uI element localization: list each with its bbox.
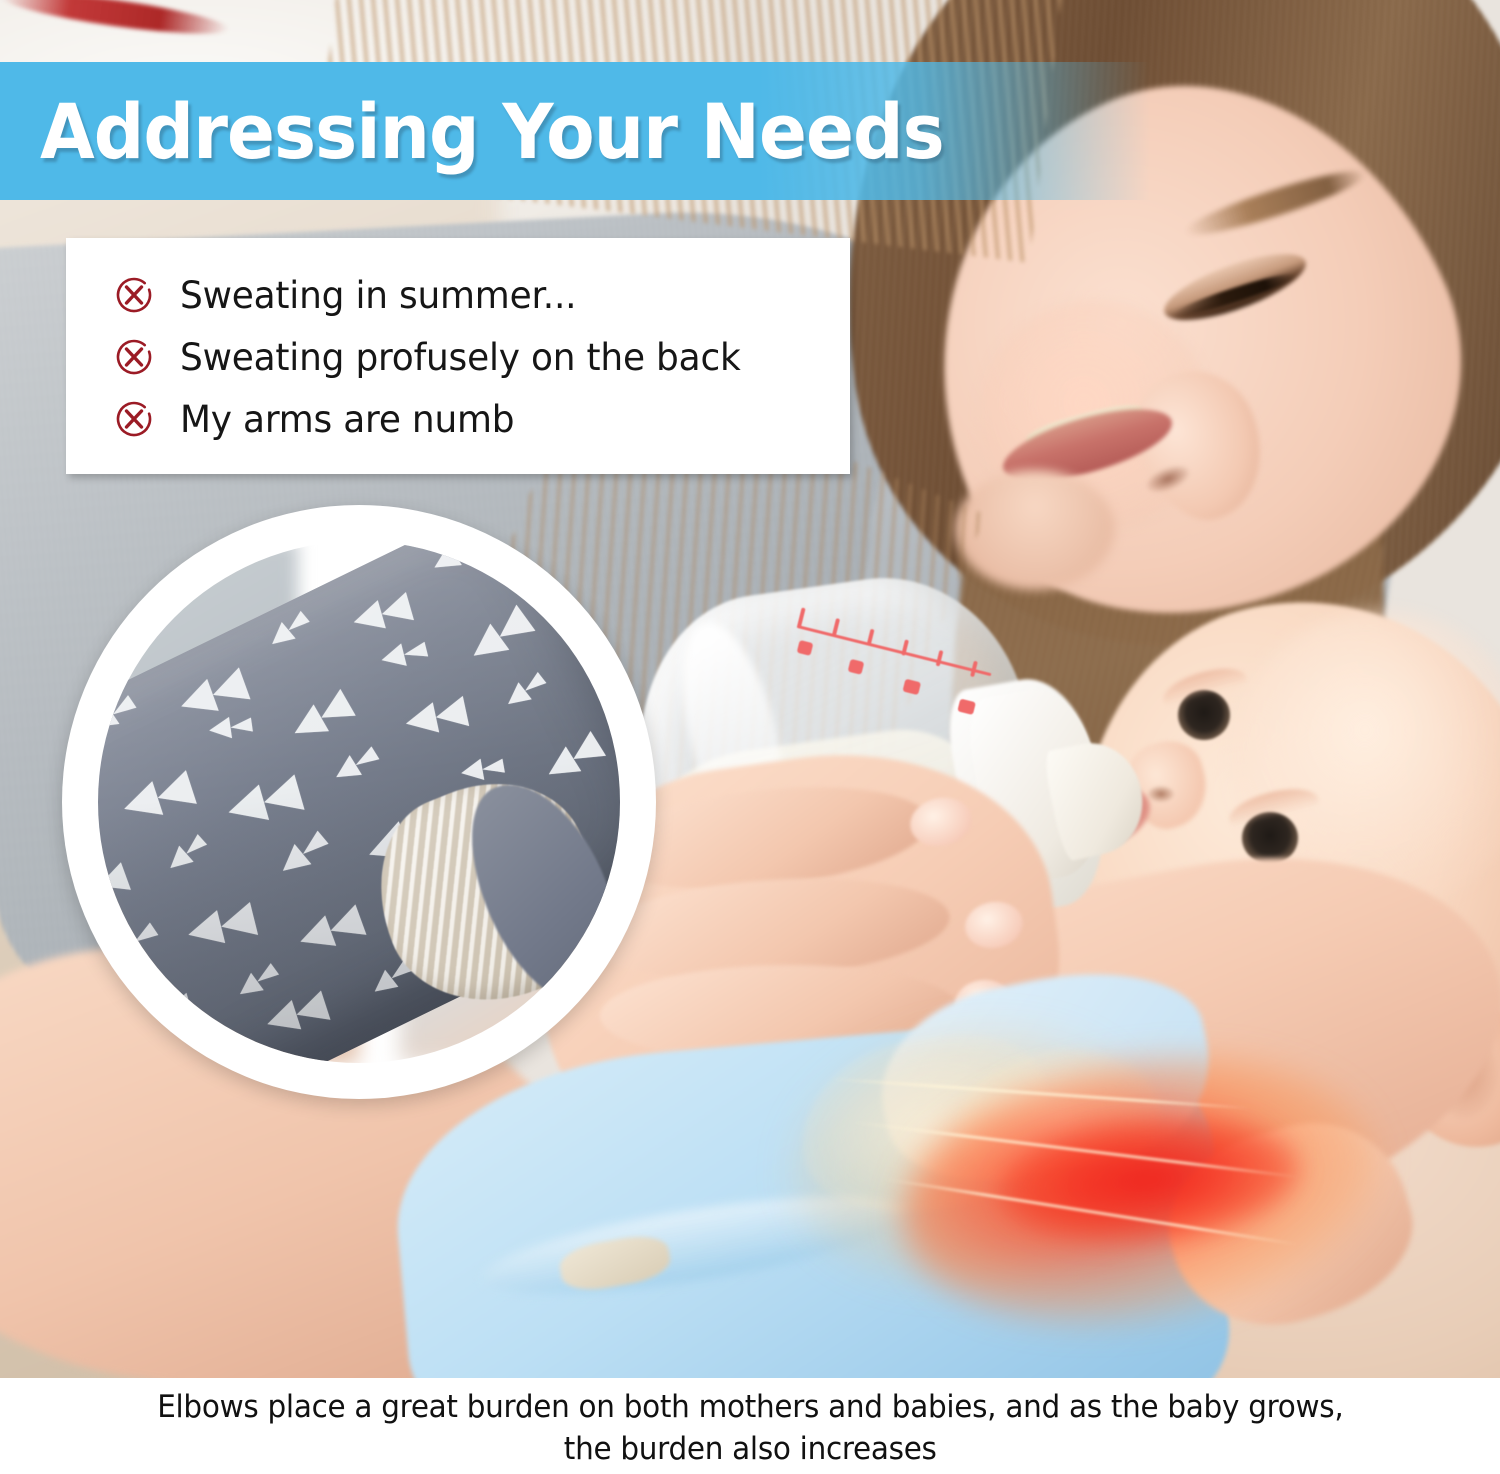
product-inset-photo: ❮◀ ◀◄ ◀◀ ◀◄ ◀◀ ◀◄ ◀◄ ◀◀ ◀◄ ◀◀ ◀◄ ◀◀ ◀◀ ◀… [98,541,620,1063]
pain-point-label: My arms are numb [180,398,514,441]
list-item: My arms are numb [66,388,850,450]
baby-nostril [1148,786,1174,802]
circled-x-icon [114,399,154,439]
caption-line-1: Elbows place a great burden on both moth… [157,1386,1343,1428]
product-infographic: Addressing Your Needs Sweating in summer… [0,0,1500,1474]
pain-point-label: Sweating profusely on the back [180,336,741,379]
pain-points-card: Sweating in summer... Sweating profusely… [66,238,850,474]
caption-line-2: the burden also increases [564,1428,937,1470]
bottom-caption: Elbows place a great burden on both moth… [0,1378,1500,1474]
list-item: Sweating profusely on the back [66,326,850,388]
list-item: Sweating in summer... [66,264,850,326]
circled-x-icon [114,275,154,315]
pain-point-label: Sweating in summer... [180,274,576,317]
page-title: Addressing Your Needs [40,62,1082,200]
circled-x-icon [114,337,154,377]
product-inset-circle: ❮◀ ◀◄ ◀◀ ◀◄ ◀◀ ◀◄ ◀◄ ◀◀ ◀◄ ◀◀ ◀◄ ◀◀ ◀◀ ◀… [62,505,656,1099]
